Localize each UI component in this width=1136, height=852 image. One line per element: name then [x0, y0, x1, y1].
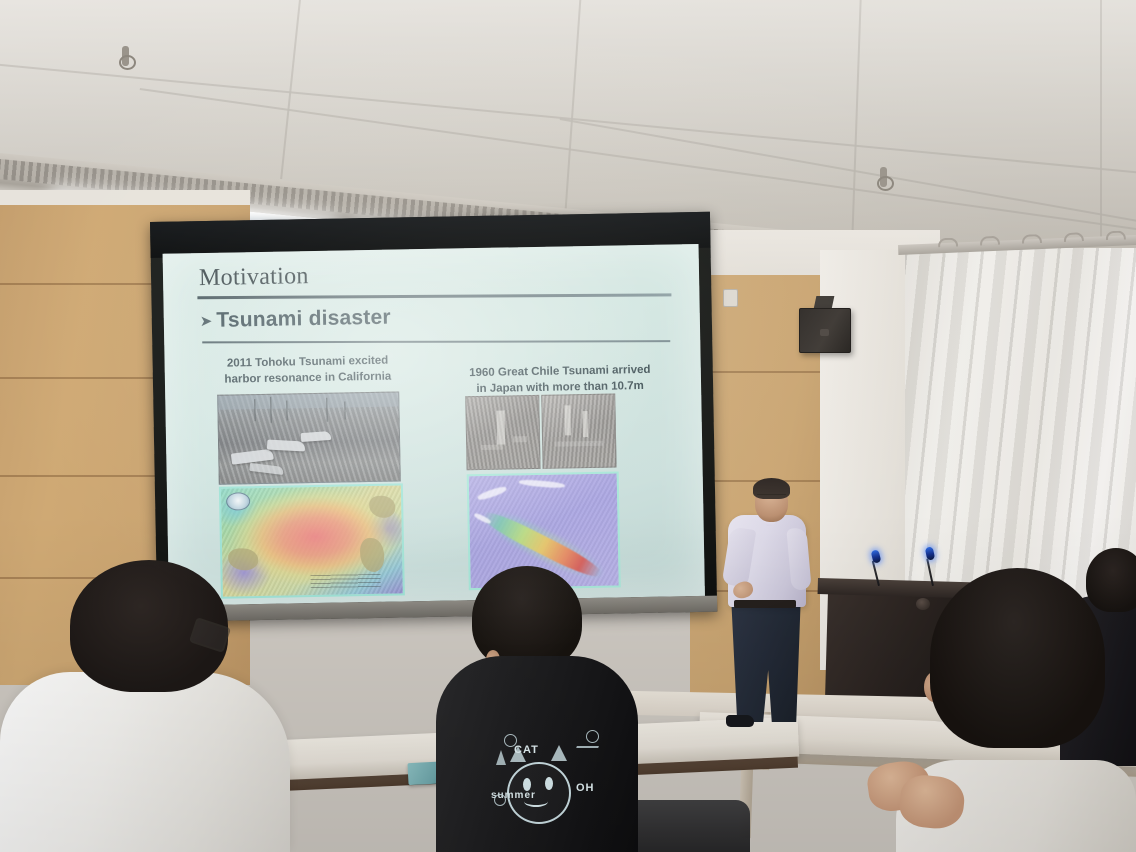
flower-doodle-3 [494, 794, 506, 806]
tee-word-oh: OH [576, 782, 595, 794]
lecture-room-photo: Motivation ➤ Tsunami disaster 2011 Tohok… [0, 0, 1136, 852]
noaa-logo-icon [226, 492, 250, 510]
ceiling-hook-left [122, 46, 129, 66]
cat-ear-right-icon [551, 745, 567, 761]
chile-tsunami-damage-photo-2 [541, 394, 616, 469]
chile-tsunami-damage-photo-1 [465, 395, 540, 470]
triangle-doodle [496, 750, 506, 765]
smoke-detector-icon [723, 289, 738, 307]
flower-doodle-2 [586, 730, 599, 743]
map-caption-text [310, 574, 380, 588]
presenter-shoe [726, 715, 754, 727]
flower-doodle-1 [504, 734, 517, 747]
noaa-pacific-tsunami-energy-map [219, 483, 405, 598]
ceiling-hook-right [880, 167, 887, 187]
audience-far-right-hair [1086, 548, 1136, 612]
slide-bullet: ➤ Tsunami disaster [200, 306, 391, 333]
caption-left: 2011 Tohoku Tsunami excited harbor reson… [212, 353, 403, 388]
title-divider [197, 293, 671, 299]
bullet-label: Tsunami disaster [216, 306, 391, 333]
audience-left-shirt [0, 672, 290, 852]
bullet-arrow-icon: ➤ [200, 313, 213, 328]
tee-word-cat: CAT [514, 744, 539, 756]
wall-speaker-icon [799, 308, 851, 353]
presenter-belt [734, 600, 796, 608]
bullet-divider [202, 340, 670, 343]
projection-screen: Motivation ➤ Tsunami disaster 2011 Tohok… [150, 212, 717, 622]
slide-title: Motivation [199, 263, 309, 292]
presentation-slide: Motivation ➤ Tsunami disaster 2011 Tohok… [163, 244, 705, 606]
presenter-glasses-icon [757, 494, 786, 501]
damaged-harbor-photo [217, 391, 401, 484]
lectern-knob [916, 598, 930, 610]
audience-right-hair [930, 568, 1105, 748]
